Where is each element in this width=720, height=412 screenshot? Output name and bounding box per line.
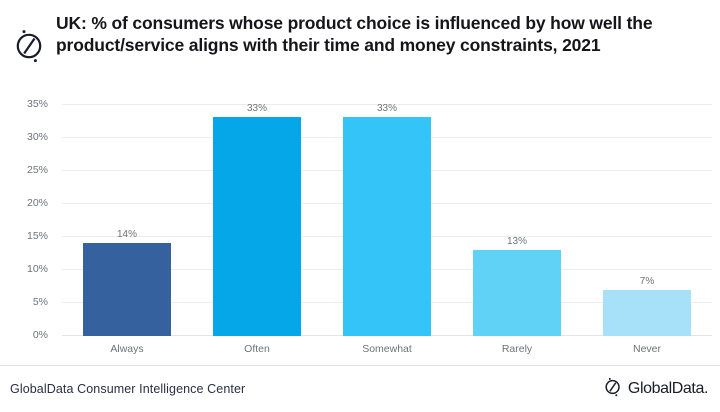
bar-often[interactable]: 33% — [213, 117, 301, 336]
x-axis-label-rarely: Rarely — [452, 343, 582, 355]
page-title: UK: % of consumers whose product choice … — [56, 12, 696, 56]
y-axis-tick-label: 15% — [2, 230, 48, 242]
bar-slot: 13% — [452, 104, 582, 336]
brand-lockup: GlobalData. — [603, 374, 708, 405]
chart-page: UK: % of consumers whose product choice … — [0, 0, 720, 412]
bar-value-label: 7% — [640, 276, 654, 287]
y-axis-tick-label: 10% — [2, 263, 48, 275]
x-axis: Always Often Somewhat Rarely Never — [62, 338, 712, 360]
y-axis-tick-label: 35% — [2, 98, 48, 110]
bar-rarely[interactable]: 13% — [473, 250, 561, 336]
bar-slot: 33% — [192, 104, 322, 336]
bar-slot: 7% — [582, 104, 712, 336]
x-axis-label-somewhat: Somewhat — [322, 343, 452, 355]
x-axis-label-never: Never — [582, 343, 712, 355]
source-text: GlobalData Consumer Intelligence Center — [10, 382, 245, 396]
bar-somewhat[interactable]: 33% — [343, 117, 431, 336]
bar-value-label: 33% — [247, 103, 267, 114]
globaldata-circle-slash-logo-icon — [603, 374, 623, 405]
y-axis-tick-label: 0% — [2, 329, 48, 341]
bar-slot: 33% — [322, 104, 452, 336]
bar-slot: 14% — [62, 104, 192, 336]
chart-header: UK: % of consumers whose product choice … — [0, 0, 720, 92]
bar-series: 14% 33% 33% 13% 7% — [62, 104, 712, 336]
y-axis-tick-label: 25% — [2, 164, 48, 176]
y-axis-tick-label: 20% — [2, 197, 48, 209]
globaldata-circle-slash-logo-icon — [8, 18, 52, 74]
bar-value-label: 13% — [507, 236, 527, 247]
x-axis-label-often: Often — [192, 343, 322, 355]
y-axis-tick-label: 30% — [2, 131, 48, 143]
bar-value-label: 33% — [377, 103, 397, 114]
bar-never[interactable]: 7% — [603, 290, 691, 336]
bar-chart: 35% 30% 25% 20% 15% 10% 5% 0% 14% — [0, 92, 720, 360]
chart-footer: GlobalData Consumer Intelligence Center … — [0, 366, 720, 412]
x-axis-label-always: Always — [62, 343, 192, 355]
y-axis-tick-label: 5% — [2, 296, 48, 308]
bar-value-label: 14% — [117, 229, 137, 240]
bar-always[interactable]: 14% — [83, 243, 171, 336]
brand-name: GlobalData. — [628, 380, 708, 398]
